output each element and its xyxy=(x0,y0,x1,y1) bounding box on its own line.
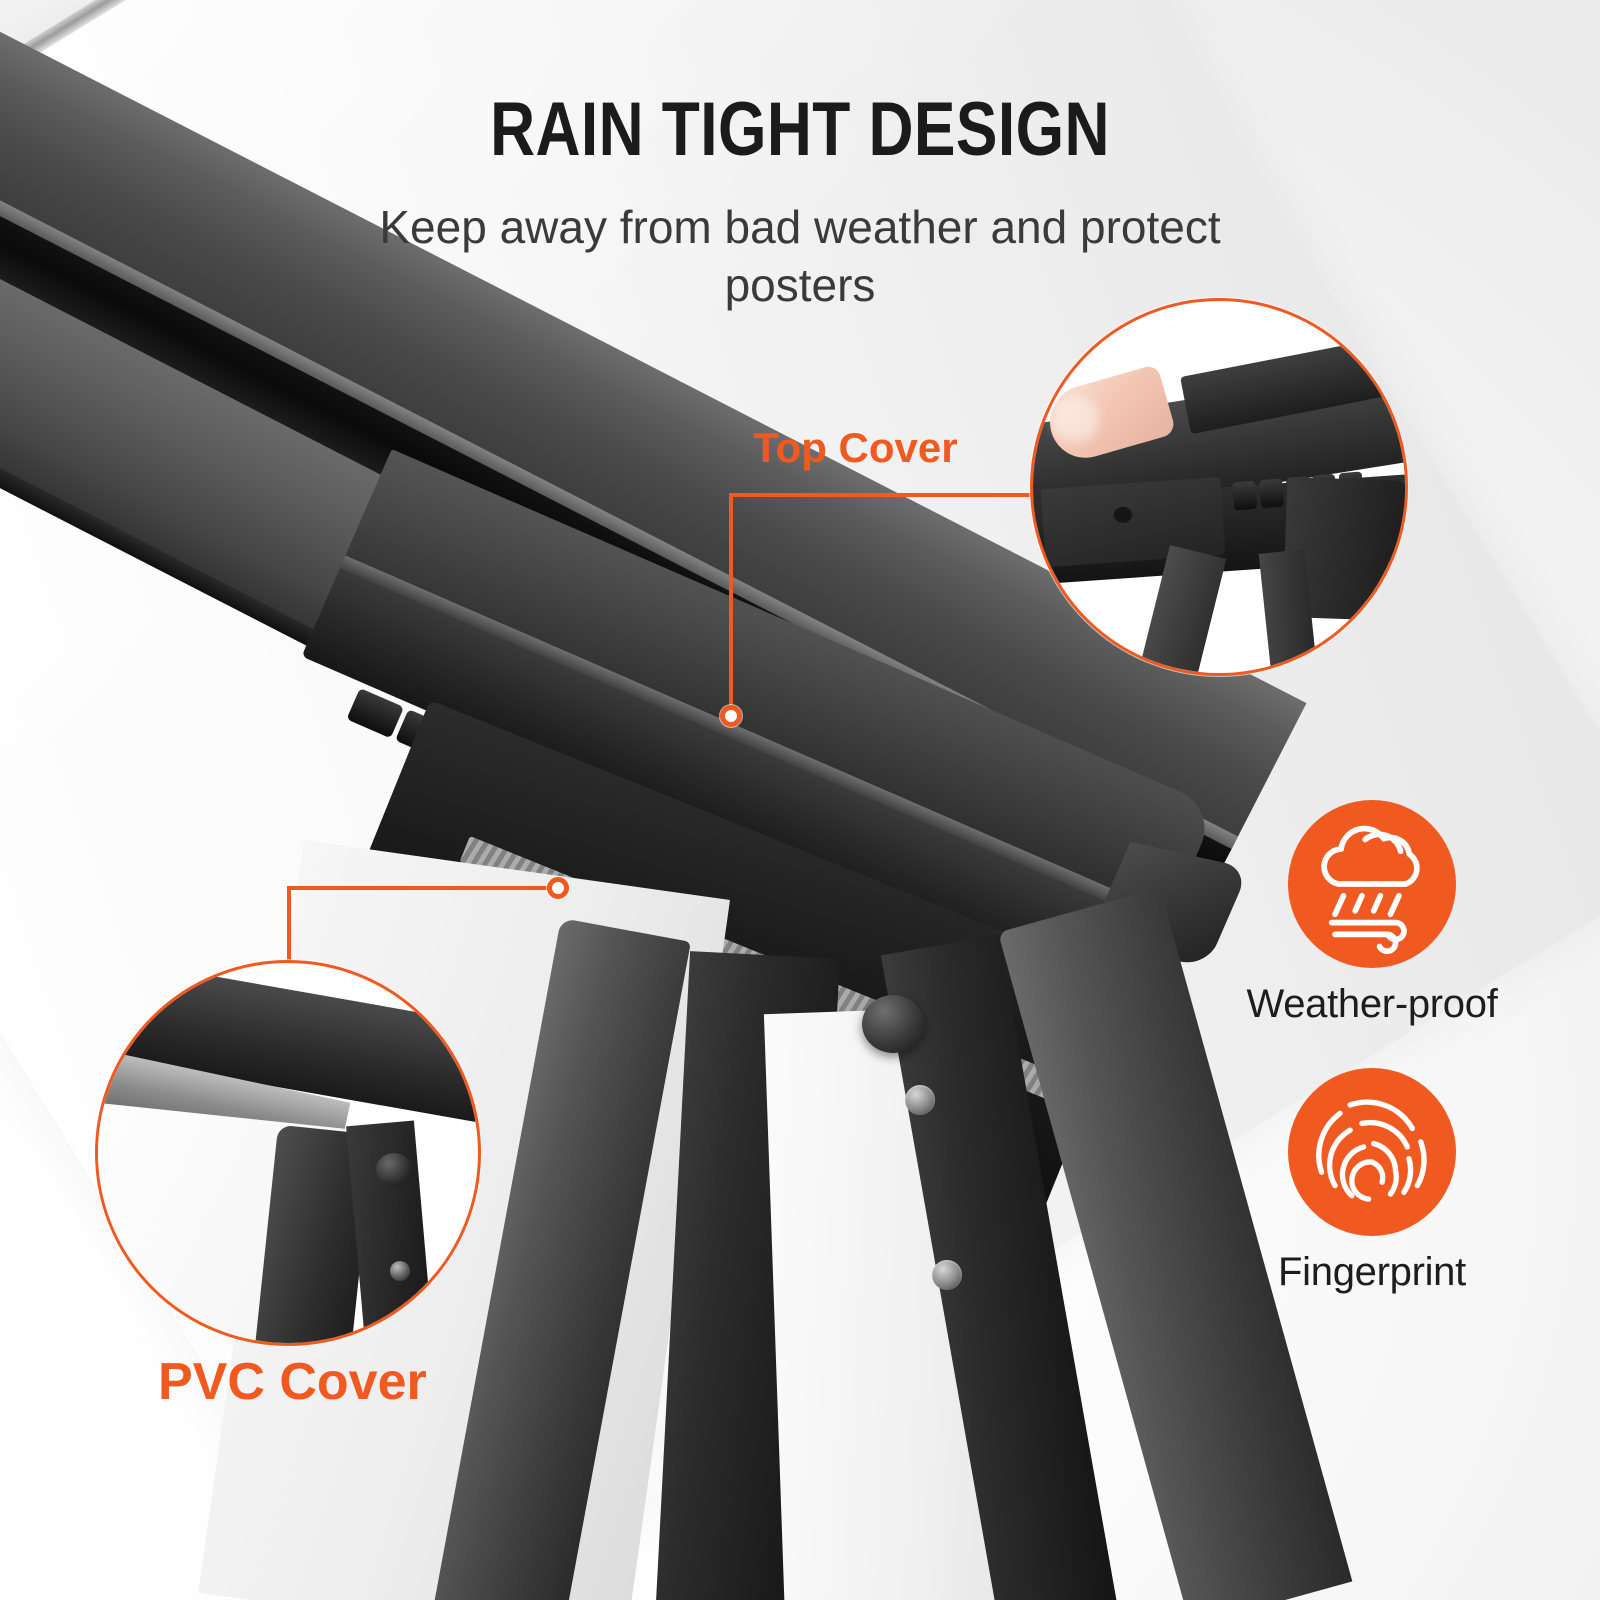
cloud-rain-wind-icon xyxy=(1288,800,1456,968)
top-cover-leader-vertical xyxy=(729,493,733,715)
top-cover-leader-dot xyxy=(720,705,742,727)
feature-label-fingerprint: Fingerprint xyxy=(1222,1250,1522,1295)
pvc-cover-leader-horizontal xyxy=(287,886,565,890)
pvc-cover-leader-dot xyxy=(547,877,569,899)
callout-label-pvc-cover: PVC Cover xyxy=(158,1352,427,1412)
feature-weather-proof: Weather-proof xyxy=(1222,800,1522,1027)
pvc-cover-leader-vertical xyxy=(287,886,291,970)
fingerprint-icon xyxy=(1288,1068,1456,1236)
page-title: RAIN TIGHT DESIGN xyxy=(144,86,1456,173)
rivet-upper xyxy=(905,1085,935,1115)
apex-ball-joint xyxy=(862,995,924,1053)
page-subtitle: Keep away from bad weather and protect p… xyxy=(340,198,1260,315)
feature-label-weather-proof: Weather-proof xyxy=(1222,982,1522,1027)
feature-fingerprint: Fingerprint xyxy=(1222,1068,1522,1295)
inset-pvc-cover xyxy=(95,960,481,1346)
callout-label-top-cover: Top Cover xyxy=(753,424,958,472)
product-feature-graphic: RAIN TIGHT DESIGN Keep away from bad wea… xyxy=(0,0,1600,1600)
rivet-lower xyxy=(932,1260,962,1290)
top-cover-leader-horizontal xyxy=(729,493,1032,497)
inset-top-cover xyxy=(1030,298,1408,676)
